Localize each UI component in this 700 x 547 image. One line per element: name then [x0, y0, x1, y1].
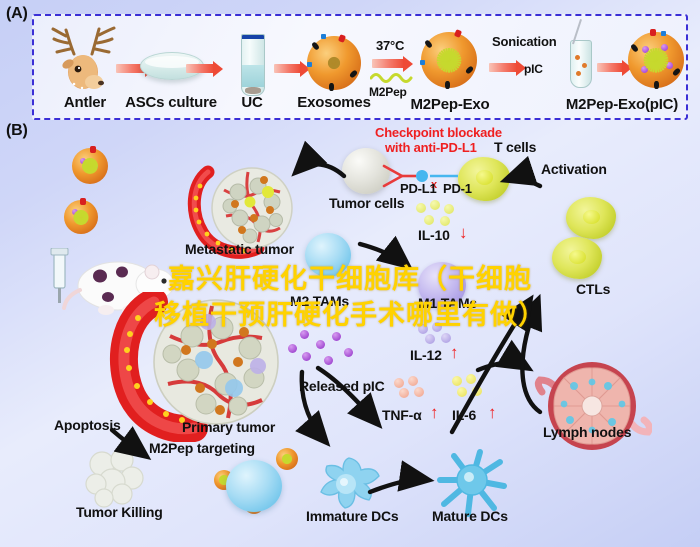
arrow-exosomes-to-m2pep — [372, 59, 404, 68]
label-activation: Activation — [541, 162, 607, 176]
arrow-m2pep-to-sonication — [489, 63, 517, 72]
label-t-cells: T cells — [494, 140, 536, 154]
exosome-particle — [307, 36, 361, 90]
label-released-pic: Released pIC — [299, 379, 385, 393]
watermark-line-1: 嘉兴肝硬化干细胞库（干细胞 — [20, 262, 680, 298]
arrow-primary-to-pic — [318, 368, 378, 424]
tnf-alpha-granule — [399, 388, 409, 398]
tnf-alpha-up-arrow: ↑ — [430, 404, 438, 421]
arrow-sonication-to-product — [597, 63, 623, 72]
label-il-12: IL-12 — [410, 348, 442, 362]
watermark-overlay: 嘉兴肝硬化干细胞库（干细胞 移植干预肝硬化手术哪里有做） — [20, 262, 680, 333]
il-6-granule — [457, 387, 467, 397]
label-m2pep-exo-pic: M2Pep-Exo(pIC) — [566, 97, 678, 112]
checkpoint-blockade-line2: with anti-PD-L1 — [385, 141, 477, 154]
arrow-activation-to-tcell — [506, 179, 540, 186]
released-pic-dot — [316, 340, 325, 349]
arrow-uc-to-exosomes — [274, 64, 301, 73]
label-tnf-alpha: TNF-α — [382, 408, 421, 422]
sonication-annotation: Sonication — [492, 35, 556, 48]
immature-dc-cell — [312, 452, 386, 516]
label-lymph-nodes: Lymph nodes — [543, 425, 631, 439]
label-uc: UC — [241, 95, 262, 110]
il-10-granule — [444, 204, 454, 214]
antler-deer-icon — [48, 24, 126, 94]
apoptotic-tumor-cell — [78, 444, 152, 508]
label-metastatic-tumor: Metastatic tumor — [185, 242, 294, 256]
m2pep-peptide-icon — [370, 70, 414, 84]
arrow-mature-dc-to-lymph — [478, 363, 528, 370]
panel-a-label: (A) — [6, 6, 28, 22]
free-exosome-2 — [64, 200, 98, 234]
released-pic-dot — [344, 348, 353, 357]
il-6-granule — [452, 376, 462, 386]
label-m2pep-exo: M2Pep-Exo — [410, 97, 489, 112]
il-10-granule — [430, 200, 440, 210]
label-il-10: IL-10 — [418, 228, 450, 242]
m2pep-exosome-pic-particle — [628, 32, 684, 88]
centrifuge-tube-icon — [241, 34, 265, 96]
label-exosomes: Exosomes — [297, 95, 370, 110]
il-12-granule — [441, 333, 451, 343]
tnf-alpha-granule — [408, 376, 418, 386]
label-mature-dcs: Mature DCs — [432, 509, 508, 523]
targeted-macrophage — [226, 460, 282, 512]
label-tumor-cells: Tumor cells — [329, 196, 404, 210]
checkpoint-blockade-line1: Checkpoint blockade — [375, 126, 502, 139]
m2pep-exosome-particle — [421, 32, 477, 88]
il-12-up-arrow: ↑ — [450, 344, 458, 361]
sonication-tube-icon — [570, 40, 592, 88]
pic-annotation: pIC — [524, 63, 543, 75]
il-12-granule — [425, 334, 435, 344]
tnf-alpha-granule — [394, 378, 404, 388]
label-il-6: IL-6 — [452, 408, 476, 422]
free-exosome-1 — [72, 148, 108, 184]
il-6-granule — [466, 374, 476, 384]
panel-b-label: (B) — [6, 123, 28, 139]
label-apoptosis: Apoptosis — [54, 418, 121, 432]
il-10-granule — [424, 215, 434, 225]
arrow-culture-to-uc — [186, 64, 214, 73]
label-m2pep-targeting: M2Pep targeting — [149, 441, 255, 455]
label-immature-dcs: Immature DCs — [306, 509, 399, 523]
il-10-granule — [416, 203, 426, 213]
released-pic-dot — [332, 332, 341, 341]
label-ascs-culture: ASCs culture — [125, 95, 217, 110]
released-pic-dot — [324, 356, 333, 365]
arrow-to-metastatic-tumor — [296, 164, 344, 176]
released-pic-dot — [302, 352, 311, 361]
temperature-annotation: 37°C — [376, 39, 404, 52]
targeting-exosome-1 — [276, 448, 298, 470]
label-pd-1: PD-1 — [443, 182, 472, 195]
released-pic-dot — [288, 344, 297, 353]
label-antler: Antler — [64, 95, 106, 110]
figure-root: (A) 37°C M2Pe — [0, 0, 700, 547]
m2pep-annotation: M2Pep — [369, 86, 407, 98]
watermark-line-2: 移植干预肝硬化手术哪里有做） — [20, 298, 680, 334]
label-pd-l1: PD-L1 — [400, 182, 437, 195]
il-10-down-arrow: ↓ — [459, 224, 467, 241]
il-6-up-arrow: ↑ — [488, 404, 496, 421]
label-tumor-killing: Tumor Killing — [76, 505, 163, 519]
il-6-granule — [472, 386, 482, 396]
il-10-granule — [440, 216, 450, 226]
ctl-cell-1 — [566, 197, 616, 239]
label-primary-tumor: Primary tumor — [182, 420, 275, 434]
tnf-alpha-granule — [414, 387, 424, 397]
